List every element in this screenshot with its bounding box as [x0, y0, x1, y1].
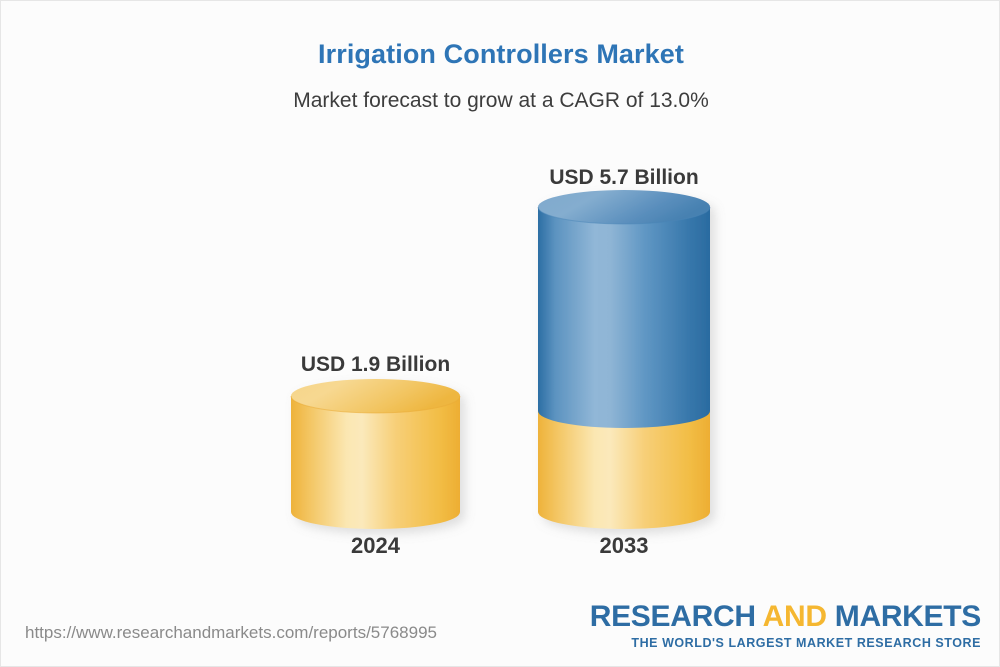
data-label-2033: USD 5.7 Billion [538, 166, 710, 190]
logo-tagline: THE WORLD'S LARGEST MARKET RESEARCH STOR… [590, 637, 981, 650]
chart-canvas: Irrigation Controllers Market Market for… [0, 0, 1000, 667]
bar-chart-plot [1, 1, 1000, 667]
bar-2033-lower-segment [538, 411, 710, 529]
category-label-2024: 2024 [291, 533, 460, 559]
logo-word-research: RESEARCH [590, 600, 756, 633]
logo-wordmark: RESEARCH AND MARKETS [590, 602, 981, 632]
category-label-2033: 2033 [538, 533, 710, 559]
source-url[interactable]: https://www.researchandmarkets.com/repor… [25, 623, 437, 643]
bar-2033[interactable] [538, 190, 710, 529]
logo-word-and: AND [756, 600, 835, 633]
bar-2024-body [291, 396, 460, 529]
logo-word-markets: MARKETS [835, 600, 981, 633]
bar-2024[interactable] [291, 379, 460, 529]
bar-2033-upper-segment [538, 207, 710, 428]
data-label-2024: USD 1.9 Billion [291, 353, 460, 377]
brand-logo[interactable]: RESEARCH AND MARKETS THE WORLD'S LARGEST… [590, 602, 981, 650]
